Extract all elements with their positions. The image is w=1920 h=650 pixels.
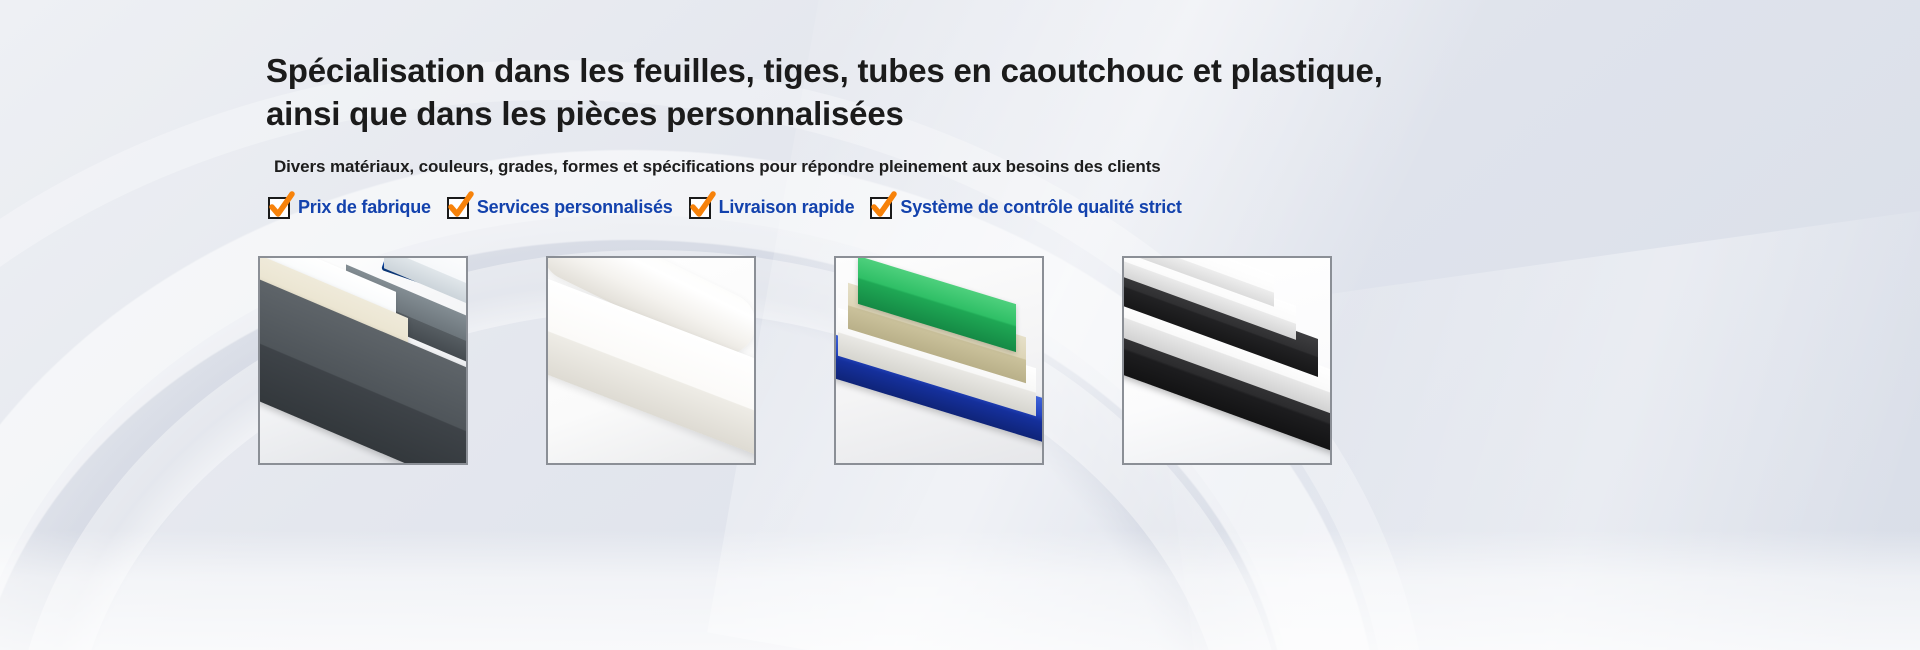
- product-photo: [836, 258, 1042, 463]
- product-image-black-and-white-plastic-sheets[interactable]: [1122, 256, 1332, 465]
- feature-label: Livraison rapide: [719, 197, 855, 218]
- checkbox-checked-icon: [268, 197, 290, 219]
- banner-subheadline: Divers matériaux, couleurs, grades, form…: [274, 157, 1386, 177]
- checkbox-checked-icon: [447, 197, 469, 219]
- product-image-white-plastic-rod-on-white-sheet[interactable]: [546, 256, 756, 465]
- product-photo: [260, 258, 466, 463]
- feature-item-fast-delivery: Livraison rapide: [689, 197, 855, 219]
- banner-text-content: Spécialisation dans les feuilles, tiges,…: [266, 50, 1386, 219]
- product-photo: [548, 258, 754, 463]
- feature-list: Prix de fabrique Services personnalisés …: [268, 197, 1386, 219]
- product-image-layered-plastic-sheets-with-blue-rod[interactable]: [258, 256, 468, 465]
- background-floor-gradient: [0, 530, 1920, 650]
- feature-label: Prix de fabrique: [298, 197, 431, 218]
- checkbox-checked-icon: [870, 197, 892, 219]
- product-image-gallery: [258, 256, 1332, 465]
- feature-item-factory-price: Prix de fabrique: [268, 197, 431, 219]
- checkbox-checked-icon: [689, 197, 711, 219]
- banner-headline: Spécialisation dans les feuilles, tiges,…: [266, 50, 1386, 136]
- promotional-banner: Spécialisation dans les feuilles, tiges,…: [0, 0, 1920, 650]
- feature-item-customized-services: Services personnalisés: [447, 197, 673, 219]
- product-image-stacked-colored-plastic-sheets[interactable]: [834, 256, 1044, 465]
- feature-item-quality-control: Système de contrôle qualité strict: [870, 197, 1181, 219]
- product-photo: [1124, 258, 1330, 463]
- feature-label: Services personnalisés: [477, 197, 673, 218]
- feature-label: Système de contrôle qualité strict: [900, 197, 1181, 218]
